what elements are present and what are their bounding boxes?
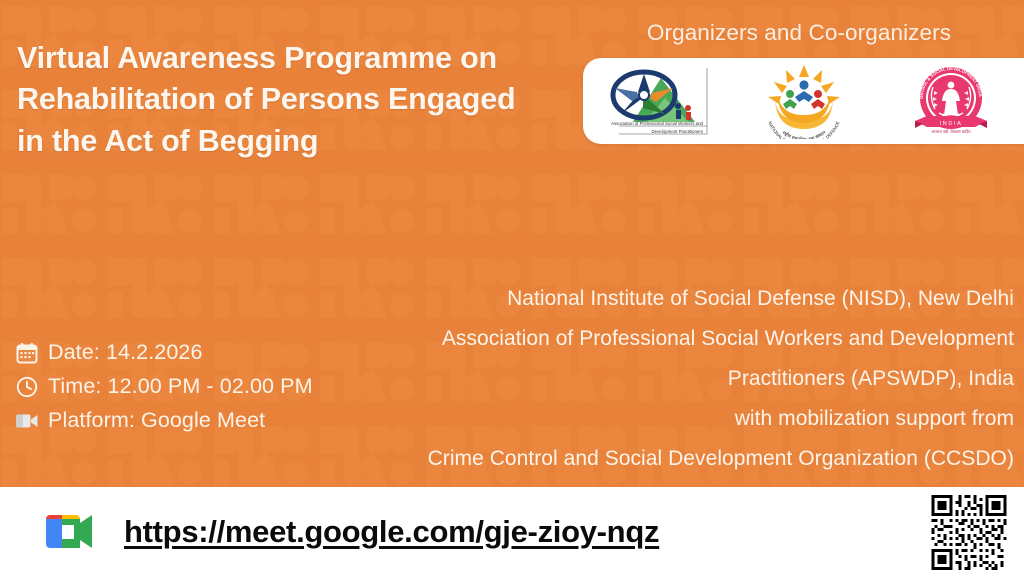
organizer-line: National Institute of Social Defense (NI… — [314, 288, 1014, 309]
footer-bar: https://meet.google.com/gje-zioy-nqz — [0, 487, 1024, 576]
calendar-icon — [14, 340, 40, 366]
apswdp-logo: Association of Professional Social Worke… — [602, 62, 712, 140]
qr-code-icon — [930, 495, 1008, 570]
detail-label-time: Time: 12.00 PM - 02.00 PM — [48, 374, 313, 399]
video-camera-icon — [14, 408, 40, 434]
event-poster: Virtual Awareness Programme on Rehabilit… — [0, 0, 1024, 576]
organizer-line: Association of Professional Social Worke… — [314, 328, 1014, 349]
organizer-line: Crime Control and Social Development Org… — [314, 448, 1014, 469]
organizer-list: National Institute of Social Defense (NI… — [314, 288, 1014, 469]
svg-text:Association of Professional So: Association of Professional Social Worke… — [611, 121, 703, 126]
clock-icon — [14, 374, 40, 400]
google-meet-icon — [38, 508, 96, 556]
ccsdo-logo: INDIA अपराध नहीं, विकास चाहिए CRIME CONT… — [896, 62, 1006, 140]
detail-label-platform: Platform: Google Meet — [48, 408, 265, 433]
detail-label-date: Date: 14.2.2026 — [48, 340, 203, 365]
svg-text:Development Practitioners: Development Practitioners — [651, 129, 703, 134]
title-line-3: in the Act of Begging — [17, 121, 577, 162]
title-line-2: Rehabilitation of Persons Engaged — [17, 79, 577, 120]
svg-text:अपराध नहीं, विकास चाहिए: अपराध नहीं, विकास चाहिए — [931, 129, 971, 134]
page-title: Virtual Awareness Programme on Rehabilit… — [17, 38, 577, 162]
svg-text:INDIA: INDIA — [939, 121, 962, 127]
svg-text:राष्ट्रीय सामाजिक रक्षा संस्था: राष्ट्रीय सामाजिक रक्षा संस्थान — [781, 130, 827, 139]
meet-link[interactable]: https://meet.google.com/gje-zioy-nqz — [124, 514, 659, 550]
organizers-logo-card: Association of Professional Social Worke… — [583, 58, 1024, 144]
title-line-1: Virtual Awareness Programme on — [17, 38, 577, 79]
nisd-logo: राष्ट्रीय सामाजिक रक्षा संस्थान NATIONAL… — [749, 62, 859, 140]
organizer-line: with mobilization support from — [314, 408, 1014, 429]
organizers-heading: Organizers and Co-organizers — [583, 20, 1015, 46]
organizer-line: Practitioners (APSWDP), India — [314, 368, 1014, 389]
